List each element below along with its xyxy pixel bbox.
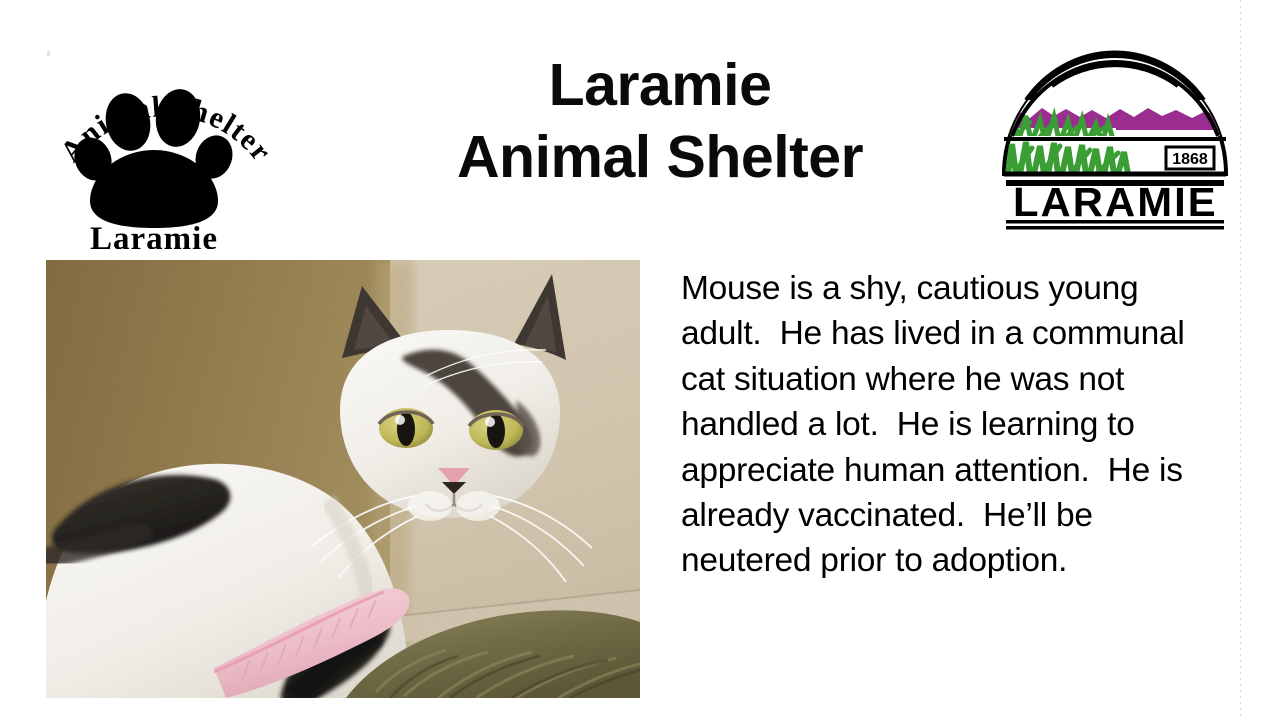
title-line-2: Animal Shelter [330,122,990,194]
title-line-1: Laramie [330,50,990,122]
page-title: Laramie Animal Shelter [330,50,990,194]
shelter-logo-bottom-text: Laramie [90,221,218,249]
wordmark-rule-mid [1006,220,1224,224]
city-of-laramie-logo: 1868 LARAMIE [996,48,1234,230]
founded-year-badge: 1868 [1166,147,1214,169]
cat-photo [46,260,640,698]
slide-canvas: Animal Shelter Laramie Laramie Animal Sh… [0,0,1280,720]
city-wordmark: LARAMIE [1013,179,1218,225]
pet-description-text: Mouse is a shy, cautious young adult. He… [681,266,1226,584]
founded-year-label: 1868 [1172,151,1208,168]
slide-guide-line [1240,0,1241,720]
wordmark-rule-bottom [1006,226,1224,230]
animal-shelter-logo: Animal Shelter Laramie [46,44,286,249]
